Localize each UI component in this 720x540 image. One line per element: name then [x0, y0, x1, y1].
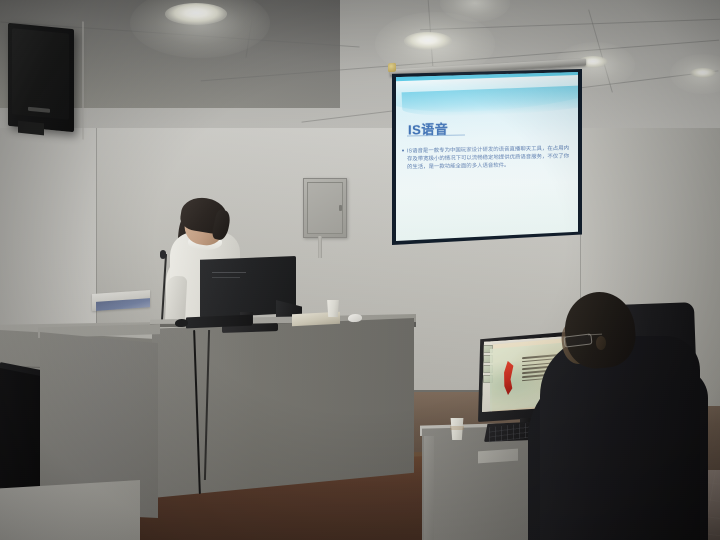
bullet-marker: [402, 149, 404, 151]
wall-speaker: [8, 23, 74, 132]
cabinet-door: [307, 182, 343, 234]
front-desk-leg: [424, 436, 434, 540]
ceiling-light-4: [690, 68, 716, 78]
paper-cup-band: [450, 426, 464, 430]
monitor-vent: [212, 277, 240, 278]
screen-mount-knob: [388, 63, 396, 72]
speaker-grille: [12, 28, 69, 119]
wall-conduit: [318, 236, 322, 258]
attendee-torso: [540, 336, 700, 540]
ceiling-light-2: [404, 32, 452, 50]
slide-bullet-content: IS语音是一款专为中国玩家设计研发的语音直播聊天工具，在占用内存及带宽极小的情况…: [407, 146, 569, 171]
slide-bullet-text: IS语音是一款专为中国玩家设计研发的语音直播聊天工具，在占用内存及带宽极小的情况…: [407, 145, 569, 172]
podium: [152, 318, 414, 498]
front-table: [0, 480, 140, 540]
wall-utility-cabinet: [303, 178, 347, 238]
ceiling-light-1: [165, 3, 227, 25]
attendee-ear: [596, 336, 606, 350]
classroom-photo: IS语音 IS语音是一款专为中国玩家设计研发的语音直播聊天工具，在占用内存及带宽…: [0, 0, 720, 540]
cabinet-latch: [339, 205, 342, 211]
paper-cup-podium: [326, 300, 340, 317]
projected-slide: IS语音 IS语音是一款专为中国玩家设计研发的语音直播聊天工具，在占用内存及带宽…: [396, 72, 578, 241]
microphone-head: [160, 250, 166, 259]
monitor-vent: [212, 272, 246, 273]
